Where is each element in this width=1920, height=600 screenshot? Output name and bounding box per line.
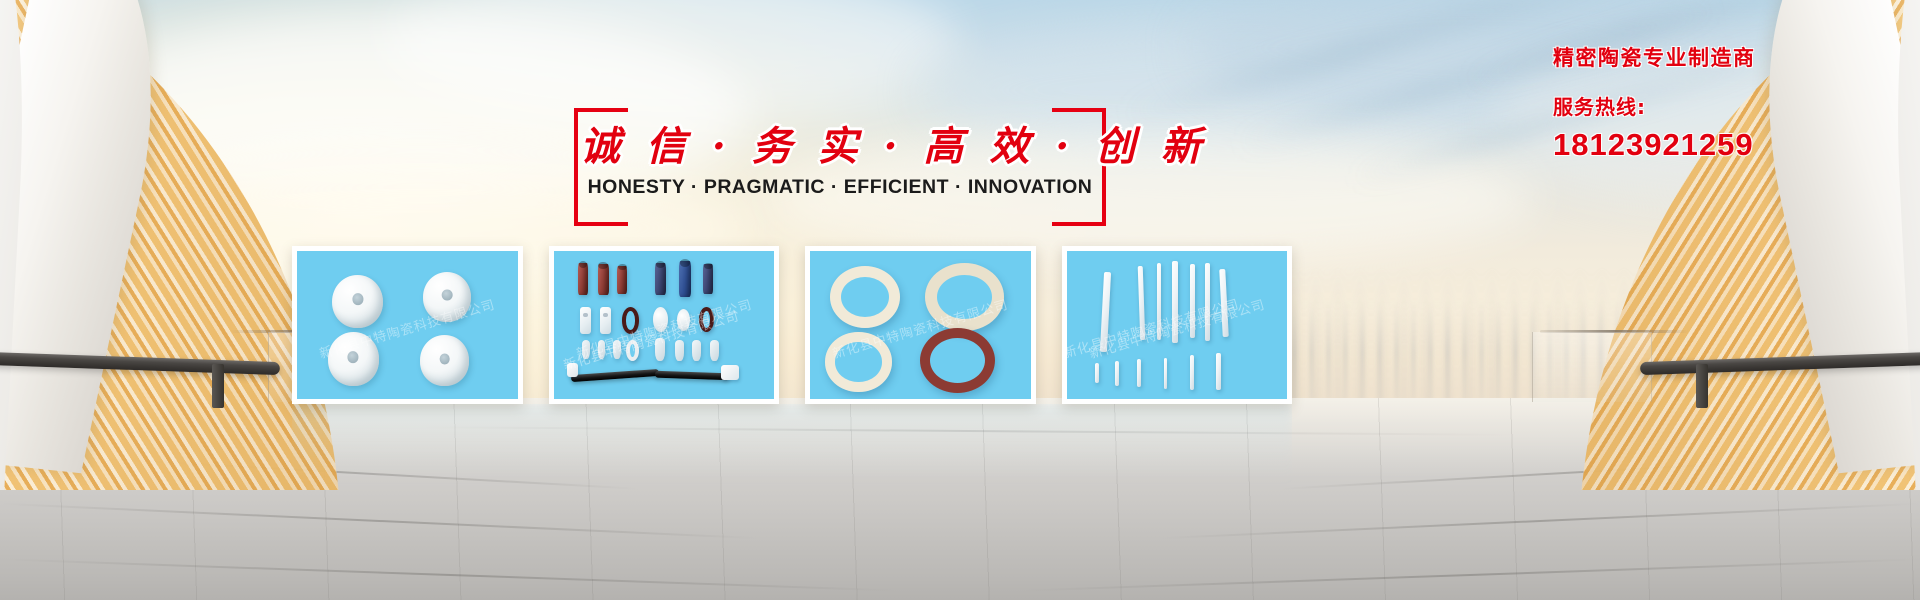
panel-canvas: 新化县中特陶瓷科技有限公司 (297, 251, 518, 399)
ceramic-rod-item (1138, 266, 1146, 340)
wire-connector-item (721, 365, 739, 380)
ceramic-tube-item (655, 263, 666, 296)
ceramic-tube-item (617, 266, 627, 294)
ceramic-socket-item (420, 335, 469, 385)
ceramic-plug-item (613, 340, 621, 359)
ceramic-oring-item (699, 307, 714, 332)
ceramic-socket-item (328, 332, 379, 385)
ceramic-rod-item (1164, 358, 1168, 389)
wire-connector-item (567, 363, 578, 376)
ceramic-plate-item (580, 307, 591, 334)
ceramic-tube-item (703, 264, 713, 294)
ceramic-ring-item (830, 266, 901, 328)
ceramic-ring-item (825, 332, 891, 391)
slogan-block: 诚 信 · 务 实 · 高 效 · 创 新 HONESTY · PRAGMATI… (580, 108, 1100, 226)
hero-banner: 诚 信 · 务 实 · 高 效 · 创 新 HONESTY · PRAGMATI… (0, 0, 1920, 600)
ceramic-rod-item (1190, 264, 1195, 338)
product-panel-tubes-plates[interactable]: 新化县中特陶瓷科技有限公司 (549, 246, 780, 404)
bench-rail-post (212, 364, 224, 408)
ceramic-rod-item (1205, 263, 1209, 341)
product-panel-floor-reflection (292, 404, 1292, 490)
ceramic-disc-item (653, 307, 668, 332)
wire-harness-item (655, 371, 730, 381)
ceramic-plug-item (598, 340, 606, 359)
ceramic-rod-item (1157, 263, 1161, 340)
contact-block: 精密陶瓷专业制造商 服务热线: 18123921259 (1553, 48, 1883, 160)
ceramic-rod-item (1137, 359, 1141, 387)
socket-tail (377, 290, 396, 316)
slogan-english: HONESTY · PRAGMATIC · EFFICIENT · INNOVA… (562, 176, 1118, 199)
ceramic-ring-item (920, 328, 995, 393)
panel-canvas: 新化县中特陶瓷科技有限公司 (1067, 251, 1288, 399)
ceramic-disc-item (677, 309, 690, 331)
ceramic-oring-item (626, 340, 639, 361)
panel-canvas: 新化县中特陶瓷科技有限公司 (810, 251, 1031, 399)
panel-canvas: 新化县中特陶瓷科技有限公司 (554, 251, 775, 399)
ceramic-plug-item (692, 340, 701, 361)
glass-balustrade-panel (1532, 332, 1652, 402)
hotline-phone-number[interactable]: 18123921259 (1553, 129, 1883, 160)
ceramic-tube-item (578, 263, 588, 296)
socket-tail (465, 286, 483, 310)
company-tagline: 精密陶瓷专业制造商 (1553, 48, 1883, 69)
wire-harness-item (571, 369, 659, 382)
ceramic-plug-item (655, 338, 665, 360)
ceramic-rod-item (1219, 269, 1229, 337)
ceramic-plug-item (710, 340, 719, 361)
ceramic-socket-item (423, 272, 472, 322)
socket-tail (463, 349, 481, 373)
ceramic-rod-item (1216, 353, 1220, 390)
ceramic-tube-item (679, 261, 691, 297)
ceramic-rod-item (1115, 361, 1119, 386)
ceramic-rod-item (1172, 261, 1178, 342)
ceramic-oring-item (622, 307, 640, 334)
ceramic-plug-item (675, 340, 684, 361)
product-panel-ceramic-sockets[interactable]: 新化县中特陶瓷科技有限公司 (292, 246, 523, 404)
ceramic-ring-item (925, 263, 1004, 331)
ceramic-rod-item (1095, 363, 1099, 382)
product-panel-ceramic-rods[interactable]: 新化县中特陶瓷科技有限公司 (1062, 246, 1293, 404)
product-panel-ceramic-rings[interactable]: 新化县中特陶瓷科技有限公司 (805, 246, 1036, 404)
ceramic-tube-item (598, 264, 609, 295)
ceramic-rod-item (1190, 355, 1194, 391)
socket-tail (372, 347, 391, 373)
ceramic-plate-item (600, 307, 611, 334)
ceramic-rod-item (1100, 272, 1111, 352)
ceramic-plug-item (582, 340, 590, 359)
product-panel-row: 新化县中特陶瓷科技有限公司 (292, 246, 1292, 404)
ceramic-socket-item (332, 275, 383, 328)
bench-rail-post (1696, 364, 1708, 408)
slogan-chinese: 诚 信 · 务 实 · 高 效 · 创 新 (580, 114, 1100, 172)
hotline-label: 服务热线: (1553, 97, 1883, 117)
